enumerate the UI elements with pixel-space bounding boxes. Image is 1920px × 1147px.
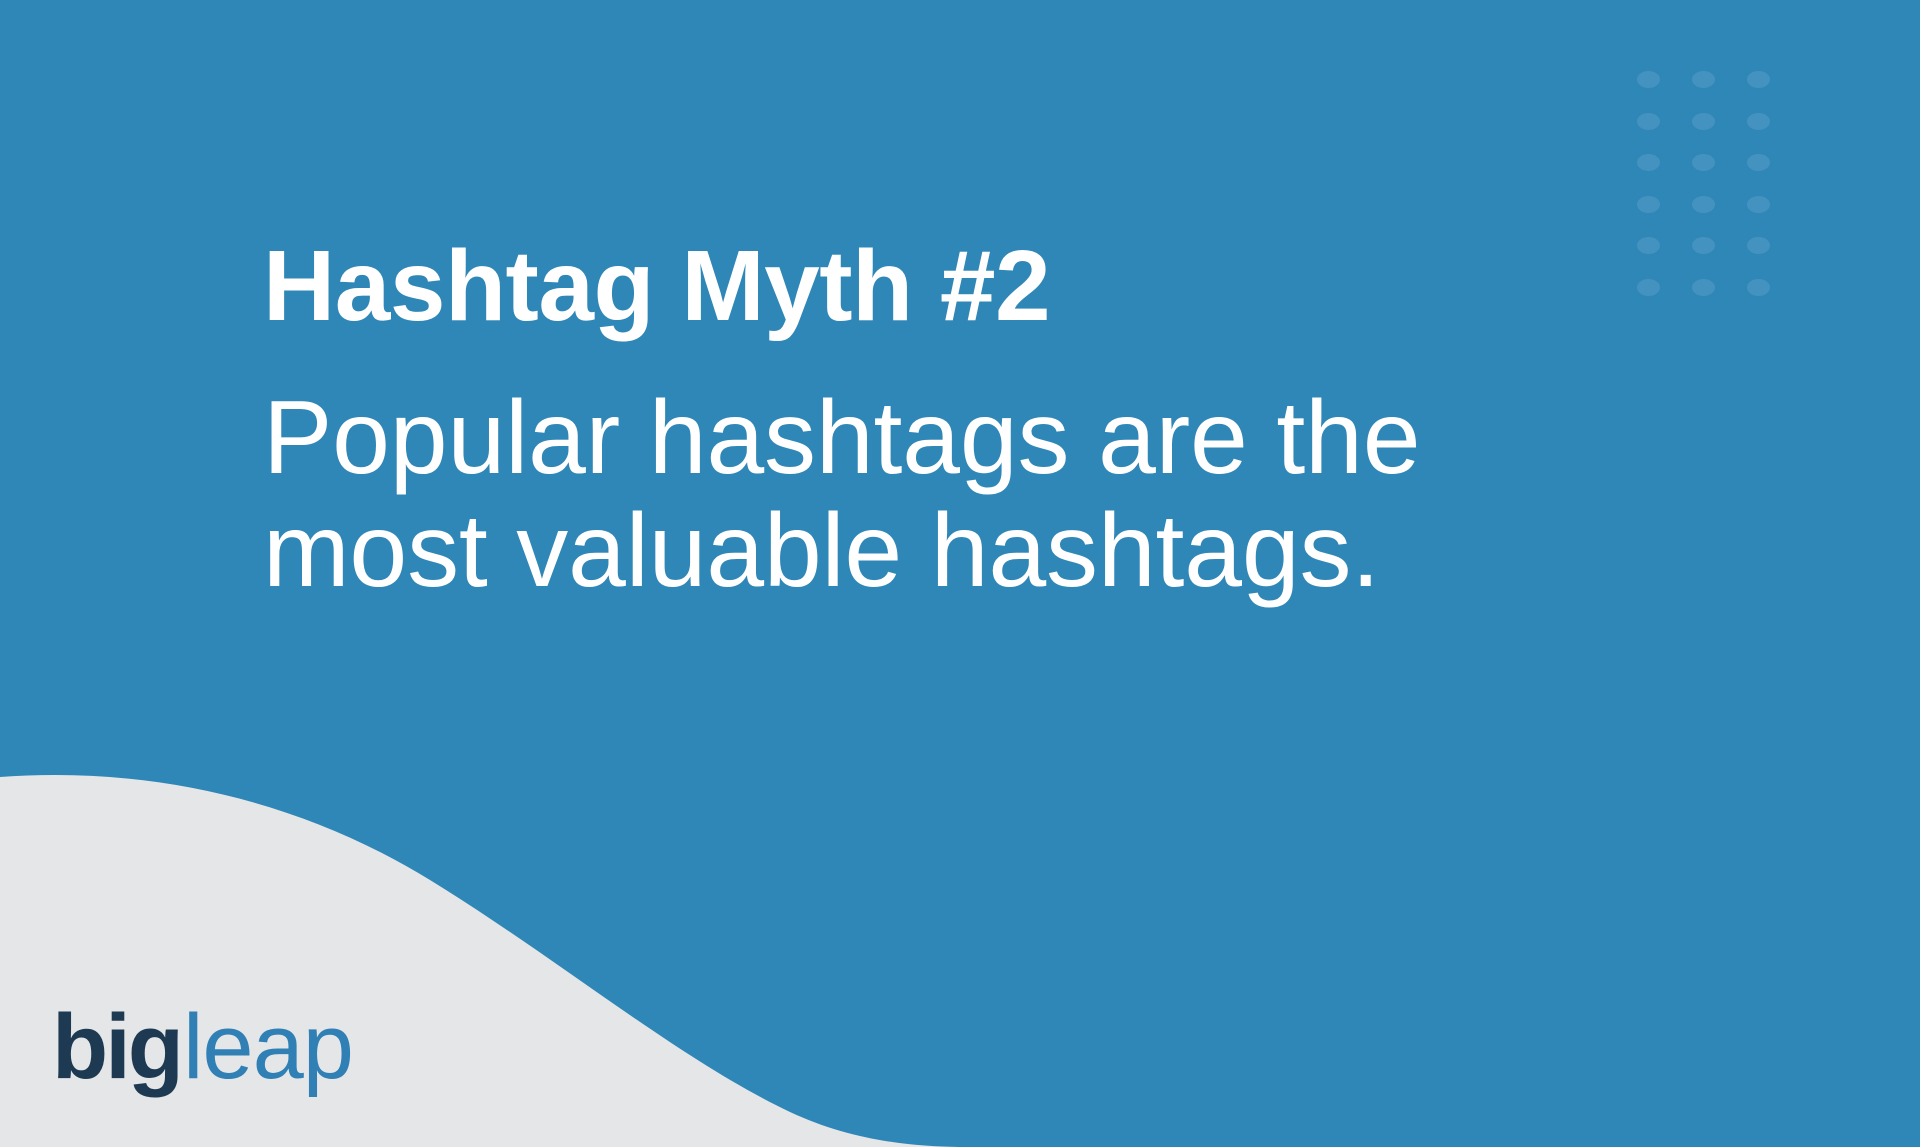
grid-dot	[1747, 71, 1770, 88]
grid-dot	[1637, 154, 1660, 171]
logo-word-big: big	[52, 1001, 181, 1093]
grid-dot	[1637, 71, 1660, 88]
grid-dot	[1747, 237, 1770, 254]
grid-dot	[1747, 113, 1770, 130]
slide-body-text: Popular hashtags are the most valuable h…	[263, 336, 1443, 609]
grid-dot	[1692, 154, 1715, 171]
grid-dot	[1692, 196, 1715, 213]
grid-dot	[1637, 196, 1660, 213]
slide-text-block: Hashtag Myth #2 Popular hashtags are the…	[263, 236, 1723, 609]
logo-word-leap: leap	[183, 1001, 353, 1093]
grid-dot	[1747, 196, 1770, 213]
grid-dot	[1692, 113, 1715, 130]
slide-canvas: Hashtag Myth #2 Popular hashtags are the…	[0, 0, 1920, 1147]
grid-dot	[1692, 71, 1715, 88]
bigleap-logo: bigleap	[52, 1001, 353, 1093]
grid-dot	[1637, 113, 1660, 130]
grid-dot	[1747, 279, 1770, 296]
page-title: Hashtag Myth #2	[263, 236, 1723, 336]
grid-dot	[1747, 154, 1770, 171]
